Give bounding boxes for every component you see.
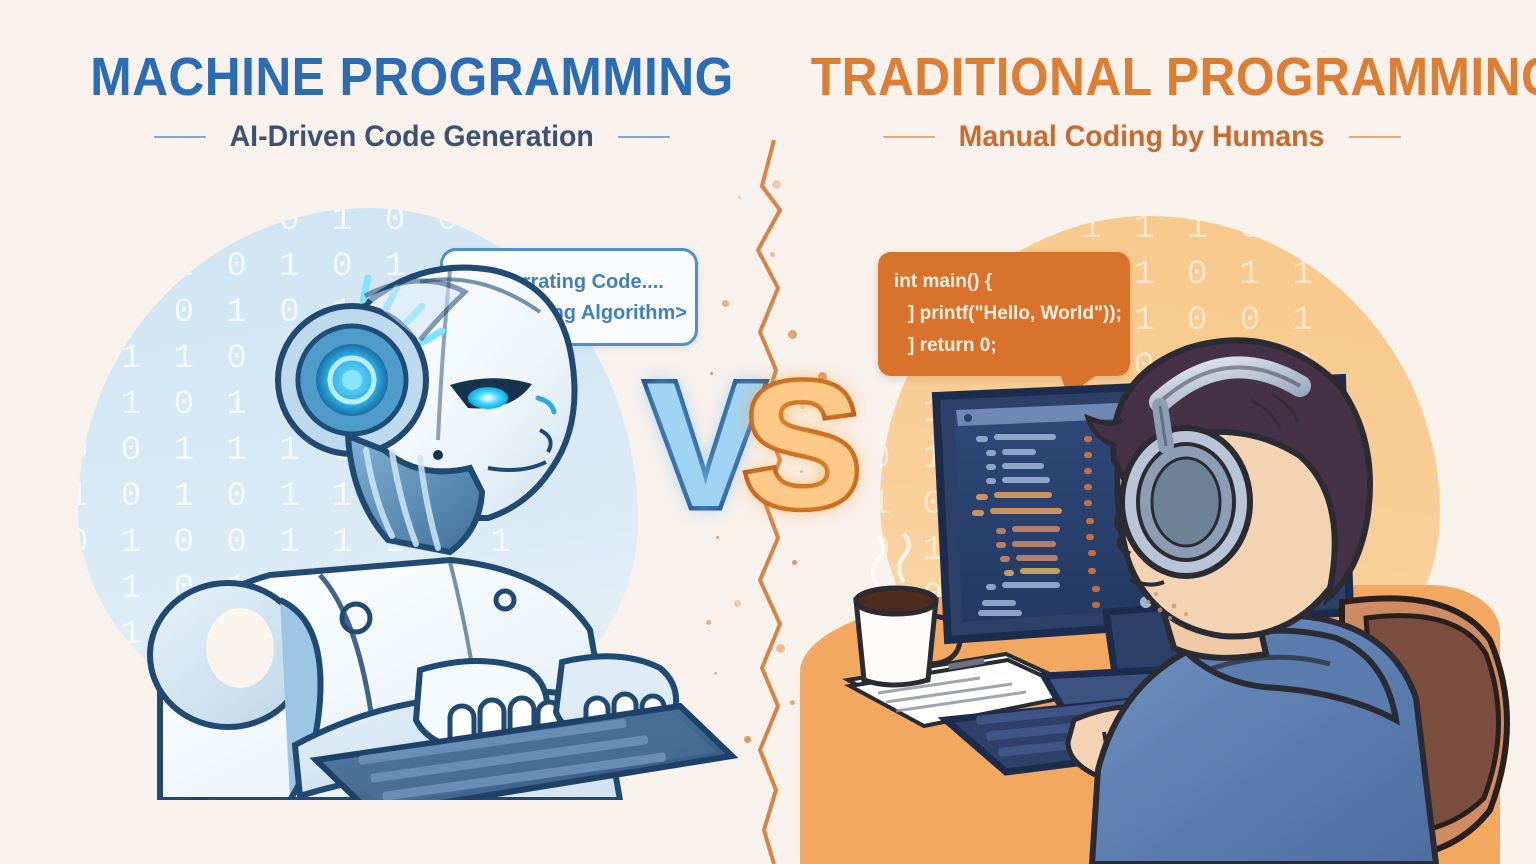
right-dash-start-icon [883,136,935,138]
human-developer-illustration [830,250,1530,864]
coffee-surface [856,588,936,614]
robot-eye-glow [468,387,508,409]
right-panel-heading: TRADITIONAL PROGRAMMING Manual Coding by… [782,46,1502,154]
left-panel-title: MACHINE PROGRAMMING [90,46,734,108]
right-subtitle-row: Manual Coding by Humans [782,120,1502,154]
left-dash-end-icon [618,136,670,138]
vs-letter-s: S [743,352,854,538]
right-panel-subtitle: Manual Coding by Humans [959,120,1325,154]
right-dash-end-icon [1349,136,1401,138]
vs-letter-v: V [646,352,757,538]
infographic-canvas: 1 0 1 1 0 1 0 0 1 0 1 1 0 1 0 1 1 0 1 0 … [0,0,1536,864]
vs-badge: VS [646,352,886,542]
left-panel-subtitle: AI-Driven Code Generation [230,120,594,154]
right-panel-title: TRADITIONAL PROGRAMMING [811,46,1473,108]
left-subtitle-row: AI-Driven Code Generation [62,120,762,154]
left-panel-heading: MACHINE PROGRAMMING AI-Driven Code Gener… [62,46,762,154]
left-dash-start-icon [154,136,206,138]
